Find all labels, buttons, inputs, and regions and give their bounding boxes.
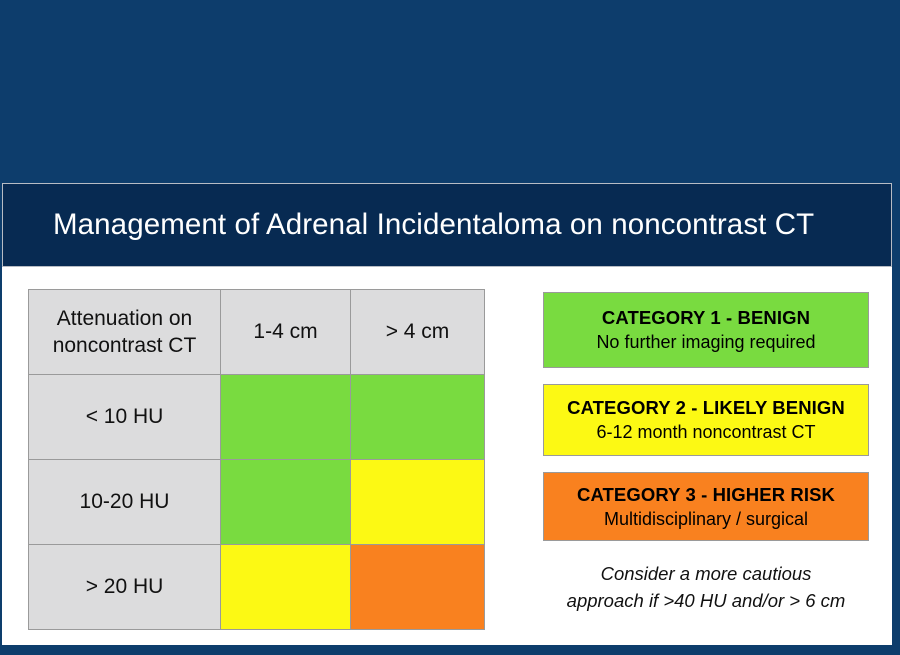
matrix-row-label-10-20hu: 10-20 HU bbox=[29, 460, 221, 545]
legend-category-1: CATEGORY 1 - BENIGN No further imaging r… bbox=[543, 292, 869, 368]
legend-category-2-subtitle: 6-12 month noncontrast CT bbox=[596, 421, 815, 444]
legend-category-1-subtitle: No further imaging required bbox=[596, 331, 815, 354]
table-row: 10-20 HU bbox=[29, 460, 485, 545]
matrix-column-header-size-1-4cm: 1-4 cm bbox=[221, 290, 351, 375]
matrix-cell-lt10hu-1-4cm bbox=[221, 375, 351, 460]
matrix-row-label-gt20hu: > 20 HU bbox=[29, 545, 221, 630]
footnote-caution: Consider a more cautious approach if >40… bbox=[528, 561, 884, 615]
matrix-cell-gt20hu-1-4cm bbox=[221, 545, 351, 630]
footnote-line-1: Consider a more cautious bbox=[528, 561, 884, 588]
legend-category-3-title: CATEGORY 3 - HIGHER RISK bbox=[577, 483, 835, 506]
matrix-row-label-lt10hu: < 10 HU bbox=[29, 375, 221, 460]
legend-category-1-title: CATEGORY 1 - BENIGN bbox=[602, 306, 810, 329]
footnote-line-2: approach if >40 HU and/or > 6 cm bbox=[528, 588, 884, 615]
slide-title-bar: Management of Adrenal Incidentaloma on n… bbox=[2, 183, 892, 267]
risk-matrix-table: Attenuation on noncontrast CT 1-4 cm > 4… bbox=[28, 289, 485, 630]
matrix-cell-lt10hu-gt4cm bbox=[351, 375, 485, 460]
matrix-row-header-label: Attenuation on noncontrast CT bbox=[29, 290, 221, 375]
legend-category-3: CATEGORY 3 - HIGHER RISK Multidisciplina… bbox=[543, 472, 869, 541]
matrix-column-header-size-gt4cm: > 4 cm bbox=[351, 290, 485, 375]
table-row: < 10 HU bbox=[29, 375, 485, 460]
legend-category-2: CATEGORY 2 - LIKELY BENIGN 6-12 month no… bbox=[543, 384, 869, 456]
legend-category-2-title: CATEGORY 2 - LIKELY BENIGN bbox=[567, 396, 845, 419]
slide-canvas: Management of Adrenal Incidentaloma on n… bbox=[0, 0, 900, 655]
page-title: Management of Adrenal Incidentaloma on n… bbox=[3, 208, 814, 242]
matrix-cell-10-20hu-1-4cm bbox=[221, 460, 351, 545]
table-row: > 20 HU bbox=[29, 545, 485, 630]
legend-category-3-subtitle: Multidisciplinary / surgical bbox=[604, 508, 808, 531]
matrix-cell-10-20hu-gt4cm bbox=[351, 460, 485, 545]
matrix-cell-gt20hu-gt4cm bbox=[351, 545, 485, 630]
table-header-row: Attenuation on noncontrast CT 1-4 cm > 4… bbox=[29, 290, 485, 375]
